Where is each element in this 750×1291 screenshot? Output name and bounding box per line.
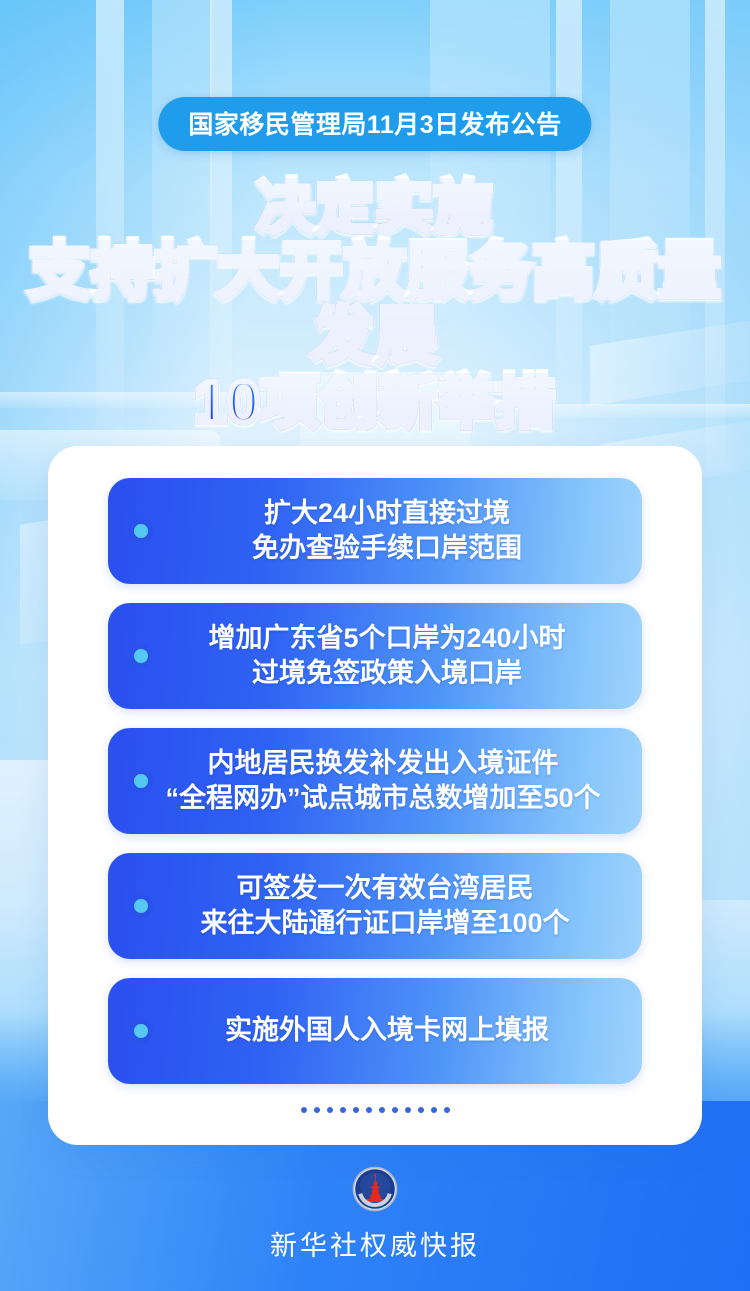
footer-text: 新华社权威快报 [0, 1224, 750, 1263]
bullet-dot-icon [134, 774, 148, 788]
continuation-dot [327, 1107, 333, 1113]
continuation-dot [431, 1107, 437, 1113]
measure-item-1[interactable]: 扩大24小时直接过境 免办查验手续口岸范围 [108, 478, 642, 584]
title-line-2: 支持扩大开放服务高质量发展 [0, 240, 750, 369]
measure-item-3-text: 内地居民换发补发出入境证件 “全程网办”试点城市总数增加至50个 [108, 746, 642, 816]
continuation-dot [340, 1107, 346, 1113]
national-immigration-administration-emblem [352, 1166, 398, 1212]
continuation-dot [353, 1107, 359, 1113]
continuation-dot [392, 1107, 398, 1113]
bullet-dot-icon [134, 524, 148, 538]
measure-item-5[interactable]: 实施外国人入境卡网上填报 [108, 978, 642, 1084]
measure-item-2[interactable]: 增加广东省5个口岸为240小时 过境免签政策入境口岸 [108, 603, 642, 709]
continuation-dot [366, 1107, 372, 1113]
bullet-dot-icon [134, 1024, 148, 1038]
measures-card: 扩大24小时直接过境 免办查验手续口岸范围 增加广东省5个口岸为240小时 过境… [48, 446, 702, 1145]
continuation-dot [379, 1107, 385, 1113]
page-title: 决定实施 支持扩大开放服务高质量发展 10项创新举措 [0, 178, 750, 434]
measure-item-4-text: 可签发一次有效台湾居民 来往大陆通行证口岸增至100个 [108, 871, 642, 941]
measure-item-3[interactable]: 内地居民换发补发出入境证件 “全程网办”试点城市总数增加至50个 [108, 728, 642, 834]
measure-item-5-text: 实施外国人入境卡网上填报 [108, 1013, 642, 1048]
announcement-badge: 国家移民管理局11月3日发布公告 [158, 97, 591, 151]
continuation-dot [405, 1107, 411, 1113]
continuation-dot [301, 1107, 307, 1113]
measure-item-2-text: 增加广东省5个口岸为240小时 过境免签政策入境口岸 [108, 621, 642, 691]
continuation-dot [418, 1107, 424, 1113]
bullet-dot-icon [134, 899, 148, 913]
continuation-dots [0, 1100, 750, 1118]
poster: 国家移民管理局11月3日发布公告 决定实施 支持扩大开放服务高质量发展 10项创… [0, 0, 750, 1291]
bullet-dot-icon [134, 649, 148, 663]
measure-item-1-text: 扩大24小时直接过境 免办查验手续口岸范围 [108, 496, 642, 566]
continuation-dot [444, 1107, 450, 1113]
title-line-3: 10项创新举措 [0, 373, 750, 433]
measure-item-4[interactable]: 可签发一次有效台湾居民 来往大陆通行证口岸增至100个 [108, 853, 642, 959]
title-line-1: 决定实施 [0, 178, 750, 238]
footer: 新华社权威快报 [0, 1166, 750, 1263]
continuation-dot [314, 1107, 320, 1113]
